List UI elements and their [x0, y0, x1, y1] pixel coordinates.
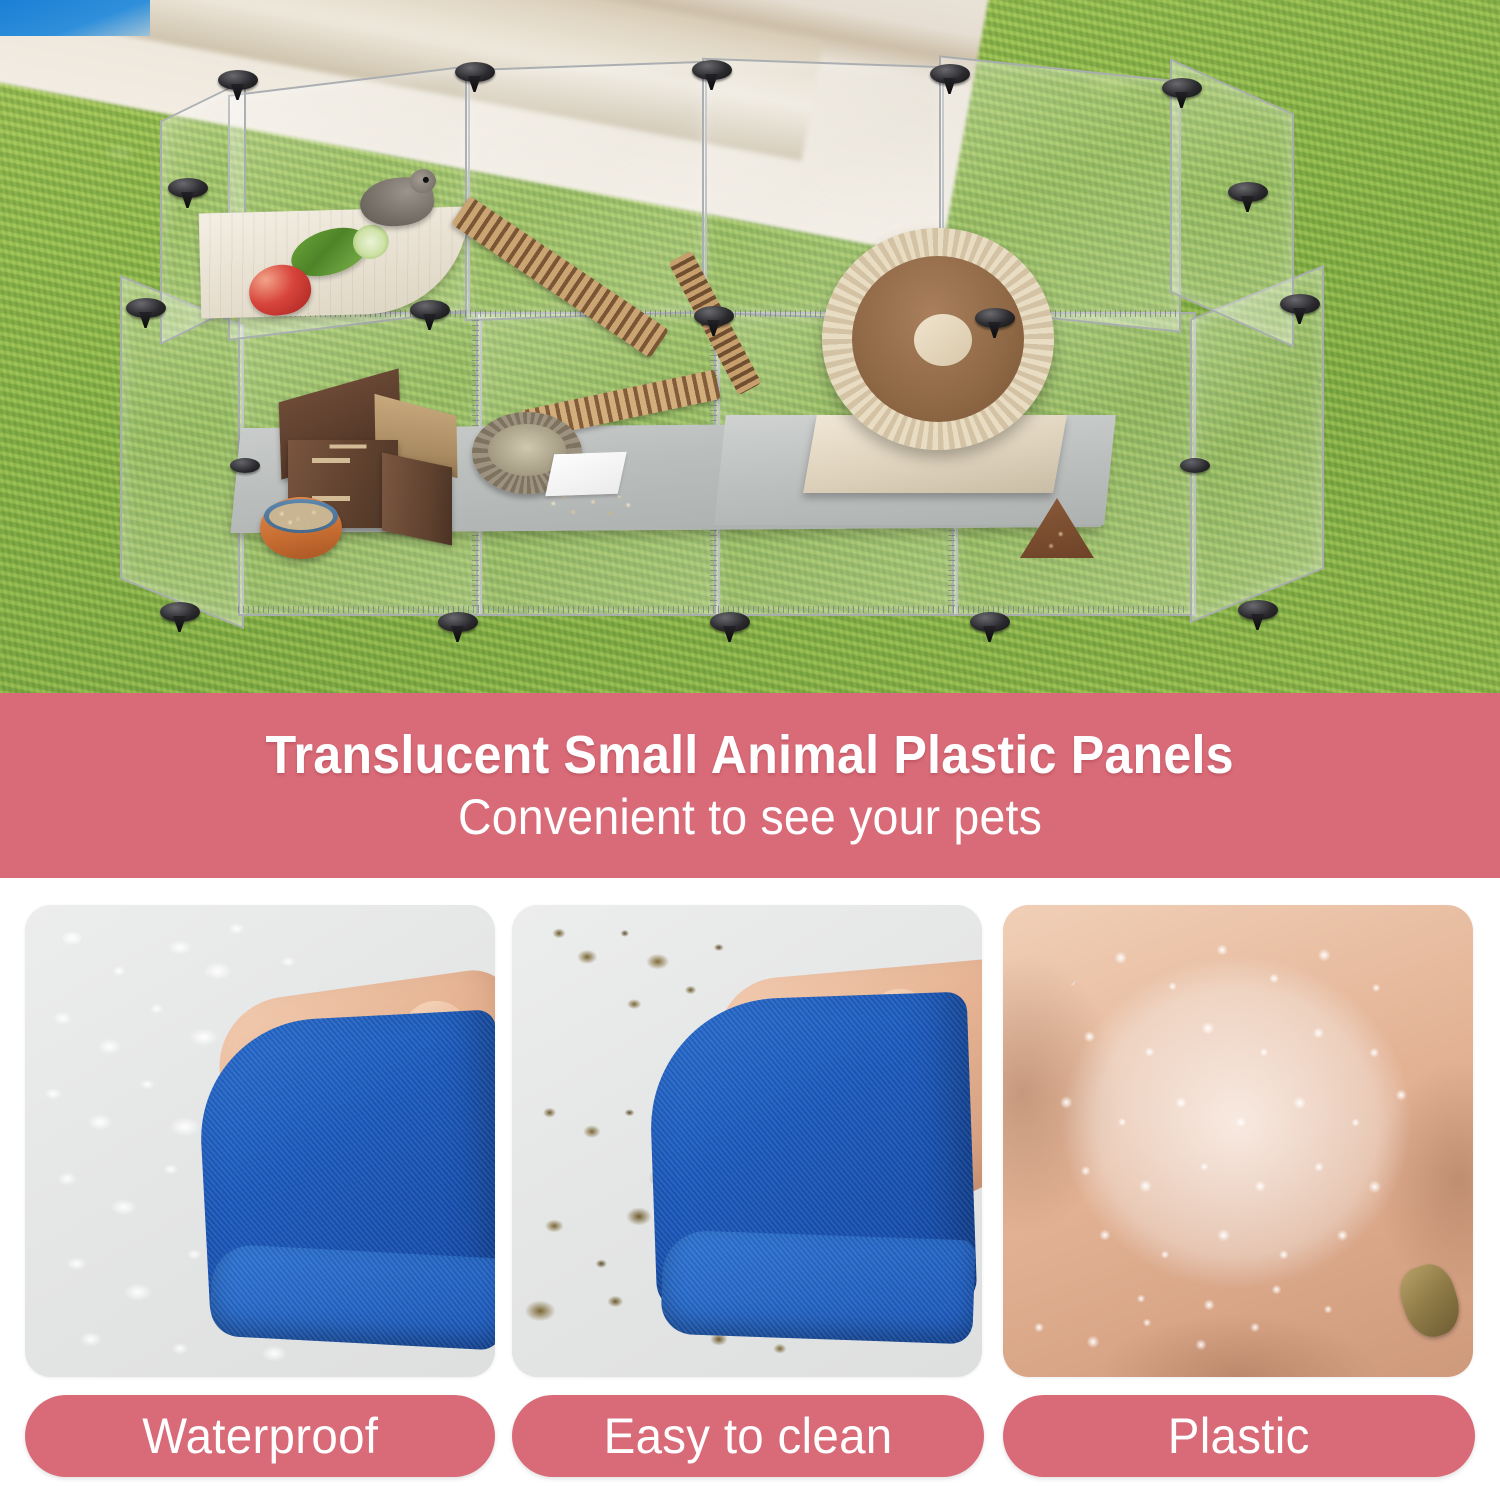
- panel-connector-clip: [1238, 600, 1278, 620]
- pet-playpen-cage: [120, 60, 1330, 650]
- cloth-fold: [660, 1230, 975, 1345]
- hero-product-photo: [0, 0, 1500, 694]
- panel-connector-clip: [694, 306, 734, 326]
- feature-image-waterproof: [25, 905, 495, 1377]
- panel-connector-clip: [438, 612, 478, 632]
- feature-label-easy-to-clean: Easy to clean: [512, 1395, 984, 1477]
- wooden-exercise-wheel: [822, 228, 1054, 450]
- panel-connector-clip-small: [230, 458, 260, 473]
- panel-connector-clip: [455, 62, 495, 82]
- panel-connector-clip: [930, 64, 970, 84]
- panel-connector-clip-small: [1180, 458, 1210, 473]
- title-banner: Translucent Small Animal Plastic Panels …: [0, 693, 1500, 878]
- panel-connector-clip: [218, 70, 258, 90]
- ceramic-food-bowl: [260, 497, 342, 559]
- feature-label-text: Plastic: [1168, 1407, 1310, 1465]
- banner-title: Translucent Small Animal Plastic Panels: [266, 728, 1234, 783]
- cage-panel-back-right: [1170, 58, 1294, 347]
- feature-image-easy-to-clean: [512, 905, 982, 1377]
- panel-connector-clip: [692, 60, 732, 80]
- feature-label-waterproof: Waterproof: [25, 1395, 495, 1477]
- panel-connector-clip: [1280, 294, 1320, 314]
- panel-connector-clip: [710, 612, 750, 632]
- banner-subtitle: Convenient to see your pets: [458, 792, 1042, 843]
- feature-label-text: Waterproof: [142, 1407, 378, 1465]
- infographic-page: Translucent Small Animal Plastic Panels …: [0, 0, 1500, 1486]
- panel-connector-clip: [160, 602, 200, 622]
- feature-image-plastic: [1003, 905, 1473, 1377]
- panel-connector-clip: [410, 300, 450, 320]
- feature-label-plastic: Plastic: [1003, 1395, 1475, 1477]
- panel-connector-clip: [970, 612, 1010, 632]
- panel-edge-hatching-bottom: [238, 606, 1188, 613]
- sky-patch: [0, 0, 150, 36]
- panel-connector-clip: [1162, 78, 1202, 98]
- panel-connector-clip: [975, 308, 1015, 328]
- feature-label-text: Easy to clean: [604, 1407, 893, 1465]
- wooden-house-ramp: [382, 453, 452, 546]
- panel-connector-clip: [1228, 182, 1268, 202]
- panel-connector-clip: [168, 178, 208, 198]
- panel-connector-clip: [126, 298, 166, 318]
- seed-pile: [538, 490, 648, 524]
- cloth-fold: [209, 1243, 495, 1350]
